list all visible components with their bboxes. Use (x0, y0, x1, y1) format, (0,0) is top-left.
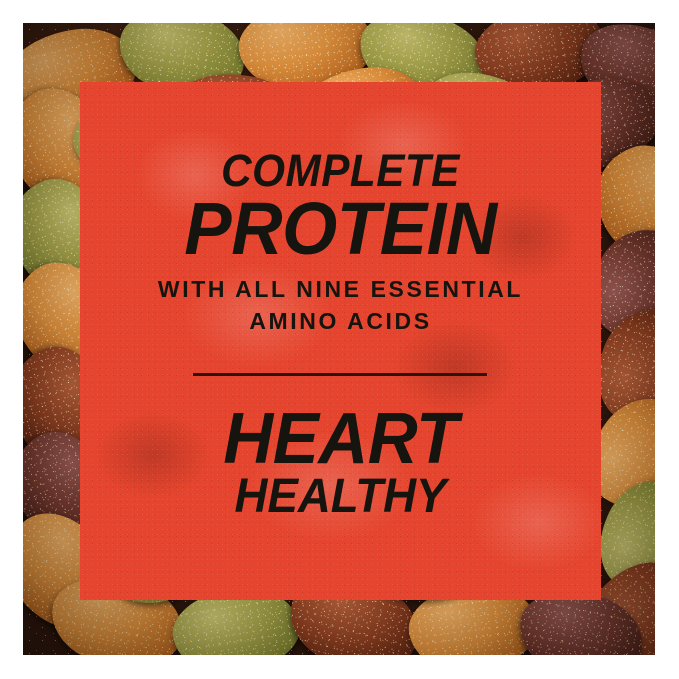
section-divider-rule (193, 373, 487, 376)
claim-headline-heart: HEART (90, 403, 590, 475)
red-claim-panel: COMPLETE PROTEIN WITH ALL NINE ESSENTIAL… (80, 82, 601, 600)
image-canvas: COMPLETE PROTEIN WITH ALL NINE ESSENTIAL… (0, 0, 679, 679)
claim-content: COMPLETE PROTEIN WITH ALL NINE ESSENTIAL… (80, 82, 601, 600)
claim-subhead-healthy: HEALTHY (93, 473, 588, 521)
amino-line-1: WITH ALL NINE ESSENTIAL (80, 274, 601, 306)
claim-amino-acids-text: WITH ALL NINE ESSENTIAL AMINO ACIDS (80, 274, 601, 337)
claim-headword-protein: PROTEIN (90, 192, 590, 266)
amino-line-2: AMINO ACIDS (80, 306, 601, 338)
